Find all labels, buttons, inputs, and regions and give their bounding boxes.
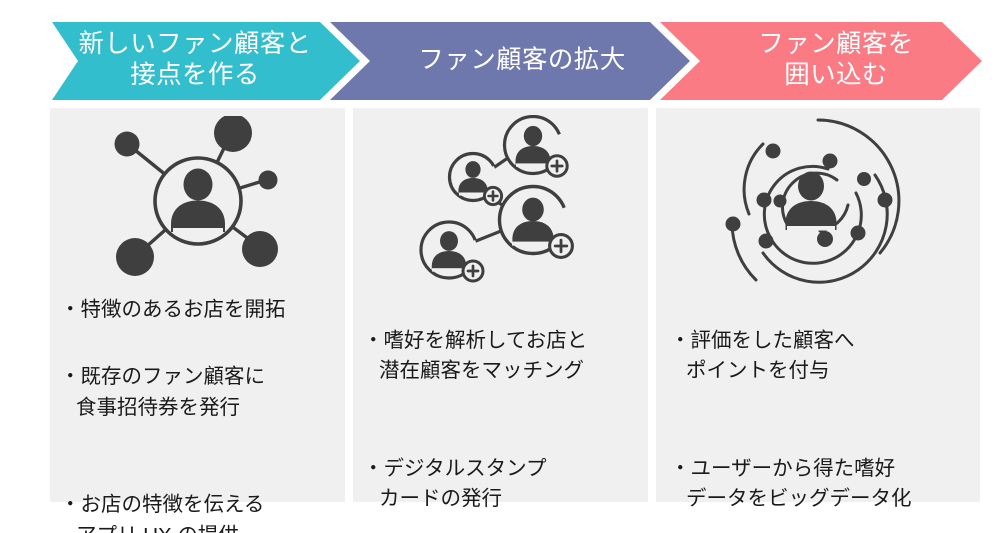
list-item-line: データをビッグデータ化 — [670, 484, 972, 515]
list-item-line: ・既存のファン顧客に — [60, 365, 265, 388]
network-node — [242, 231, 278, 267]
diagram-canvas: 新しいファン顧客と 接点を作る ファン顧客の拡大 ファン顧客を 囲い込む — [0, 0, 1000, 533]
list-item: ・ユーザーから得た嗜好 データをビッグデータ化 しマッチング精度を向上 — [670, 423, 972, 533]
chevron-shapes — [0, 0, 1000, 115]
list-item: ・評価をした顧客へ ポイントを付与 — [670, 295, 972, 417]
network-node — [116, 238, 154, 276]
list-item-line: アプリ UX の提供 — [60, 521, 337, 533]
stage-3-icon-wrap — [656, 108, 980, 293]
list-item: ・特徴のあるお店を開拓 — [60, 295, 337, 326]
list-item-line: ・お店の特徴を伝える — [60, 493, 264, 516]
add-user-badge — [492, 115, 573, 185]
add-user-badge — [485, 172, 580, 267]
list-item: ・デジタルスタンプ カードの発行 — [363, 423, 640, 533]
add-user-badge — [411, 210, 489, 287]
stage-2-panel: ・嗜好を解析してお店と 潜在顧客をマッチング ・デジタルスタンプ カードの発行 … — [353, 108, 648, 502]
list-item-line: ポイントを付与 — [670, 356, 972, 387]
stage-header-row: 新しいファン顧客と 接点を作る ファン顧客の拡大 ファン顧客を 囲い込む — [0, 0, 1000, 115]
user-glyph — [786, 171, 837, 230]
network-node — [214, 116, 252, 152]
stage-1-panel: ・特徴のあるお店を開拓 ・既存のファン顧客に 食事招待券を発行 ・お店の特徴を伝… — [50, 108, 345, 502]
list-item: ・嗜好を解析してお店と 潜在顧客をマッチング — [363, 295, 640, 417]
stage-1-bullet-list: ・特徴のあるお店を開拓 ・既存のファン顧客に 食事招待券を発行 ・お店の特徴を伝… — [50, 295, 345, 533]
add-user-network-icon — [411, 115, 591, 287]
stage-3-bullet-list: ・評価をした顧客へ ポイントを付与 ・ユーザーから得た嗜好 データをビッグデータ… — [656, 295, 980, 533]
stage-3-panel: ・評価をした顧客へ ポイントを付与 ・ユーザーから得た嗜好 データをビッグデータ… — [656, 108, 980, 502]
network-node — [258, 170, 277, 189]
network-hub-user-icon — [100, 116, 296, 286]
list-item-line: ・評価をした顧客へ — [670, 329, 855, 352]
chevron-stage-2[interactable] — [330, 22, 690, 100]
stage-2-icon-wrap — [353, 108, 648, 293]
stage-2-bullet-list: ・嗜好を解析してお店と 潜在顧客をマッチング ・デジタルスタンプ カードの発行 … — [353, 295, 648, 533]
list-item-line: ・嗜好を解析してお店と — [363, 329, 587, 352]
chevron-stage-3[interactable] — [660, 22, 982, 100]
list-item-line: 食事招待券を発行 — [60, 393, 337, 424]
list-item: ・お店の特徴を伝える アプリ UX の提供 — [60, 460, 337, 533]
chevron-stage-1[interactable] — [52, 22, 360, 100]
list-item-line: カードの発行 — [363, 484, 640, 515]
user-orbit-radar-icon — [725, 113, 911, 289]
add-user-badge — [439, 143, 505, 209]
list-item-line: ・ユーザーから得た嗜好 — [670, 457, 895, 480]
list-item-line: ・デジタルスタンプ — [363, 457, 546, 480]
list-item-line: 潜在顧客をマッチング — [363, 356, 640, 387]
stage-1-icon-wrap — [50, 108, 345, 293]
list-item: ・既存のファン顧客に 食事招待券を発行 — [60, 332, 337, 454]
network-node — [114, 131, 139, 156]
